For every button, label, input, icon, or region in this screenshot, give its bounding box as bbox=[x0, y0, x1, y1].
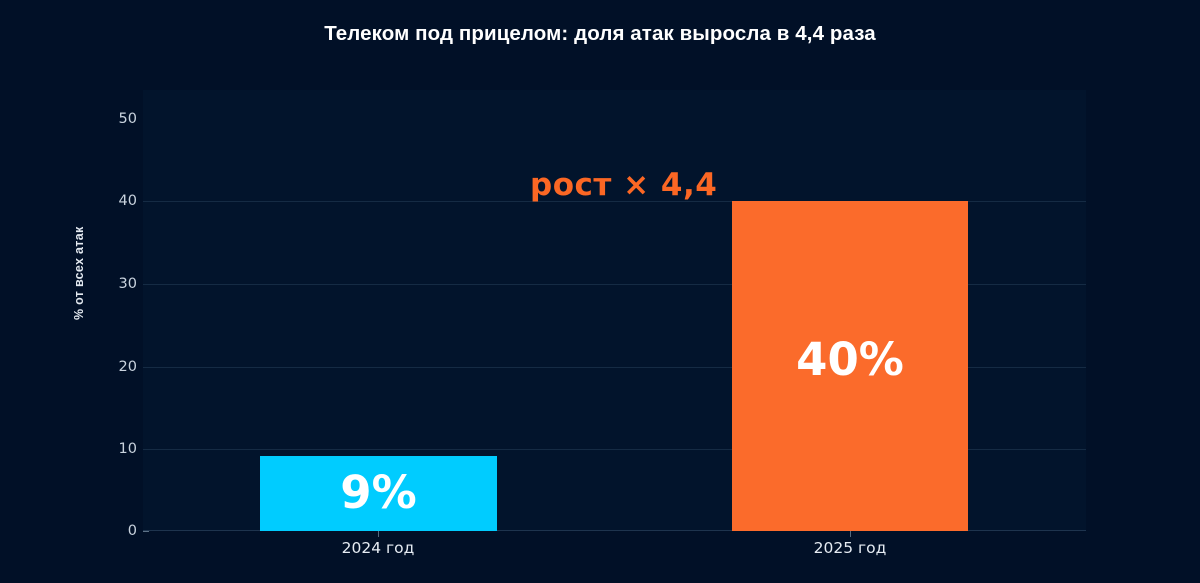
bar-2025[interactable]: 40% bbox=[732, 201, 968, 531]
plot-area: 9% 40% bbox=[143, 90, 1086, 531]
chart-figure: Телеком под прицелом: доля атак выросла … bbox=[0, 0, 1200, 583]
bar-value-2024: 9% bbox=[260, 470, 497, 515]
x-tick-label-2024: 2024 год bbox=[248, 539, 508, 557]
y-tick-label-50: 50 bbox=[97, 111, 137, 127]
chart-title: Телеком под прицелом: доля атак выросла … bbox=[0, 22, 1200, 46]
y-tick-label-10: 10 bbox=[97, 441, 137, 457]
y-axis-title: % от всех атак bbox=[72, 160, 86, 320]
y-tick-label-30: 30 bbox=[97, 276, 137, 292]
bar-2024[interactable]: 9% bbox=[260, 456, 497, 531]
x-tick-label-2025: 2025 год bbox=[720, 539, 980, 557]
x-tick-mark-2025 bbox=[850, 531, 851, 537]
y-tick-label-20: 20 bbox=[97, 359, 137, 375]
y-tick-label-0: 0 bbox=[97, 523, 137, 539]
bar-value-2025: 40% bbox=[732, 337, 968, 382]
y-tick-mark-0 bbox=[143, 531, 149, 532]
x-tick-mark-2024 bbox=[378, 531, 379, 537]
growth-annotation: рост × 4,4 bbox=[530, 167, 717, 203]
y-tick-label-40: 40 bbox=[97, 193, 137, 209]
